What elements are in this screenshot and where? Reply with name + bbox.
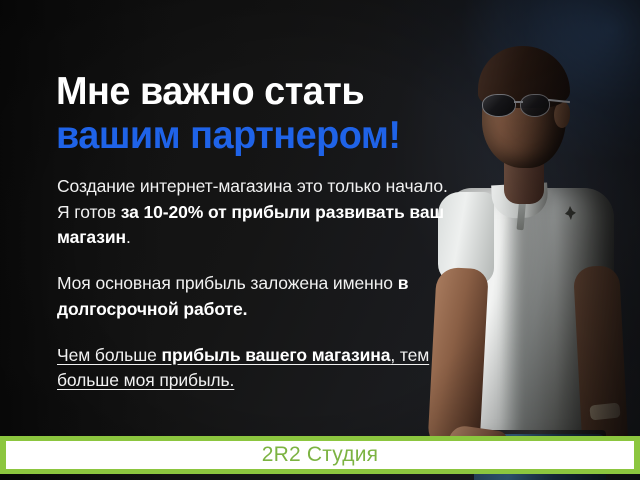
paragraph-3-bold: прибыль вашего магазина — [162, 345, 391, 365]
paragraph-2-text-a: Моя основная прибыль заложена именно — [57, 273, 398, 293]
headline-line-1: Мне важно стать — [56, 70, 444, 114]
headline-line-2: вашим партнером! — [56, 114, 444, 158]
body-copy: Создание интернет-магазина это только на… — [57, 174, 449, 394]
promo-banner: Мне важно стать вашим партнером! Создани… — [0, 0, 640, 480]
paragraph-2: Моя основная прибыль заложена именно в д… — [57, 271, 449, 322]
paragraph-1-text-b: . — [126, 227, 131, 247]
footer-bar: 2R2 Студия — [0, 436, 640, 474]
paragraph-1: Создание интернет-магазина это только на… — [57, 174, 449, 251]
paragraph-3: Чем больше прибыль вашего магазина, тем … — [57, 343, 449, 394]
footer-inner: 2R2 Студия — [6, 441, 634, 469]
brand-label: 2R2 Студия — [262, 443, 379, 467]
paragraph-3-text-a: Чем больше — [57, 345, 162, 365]
headline: Мне важно стать вашим партнером! — [56, 70, 444, 157]
